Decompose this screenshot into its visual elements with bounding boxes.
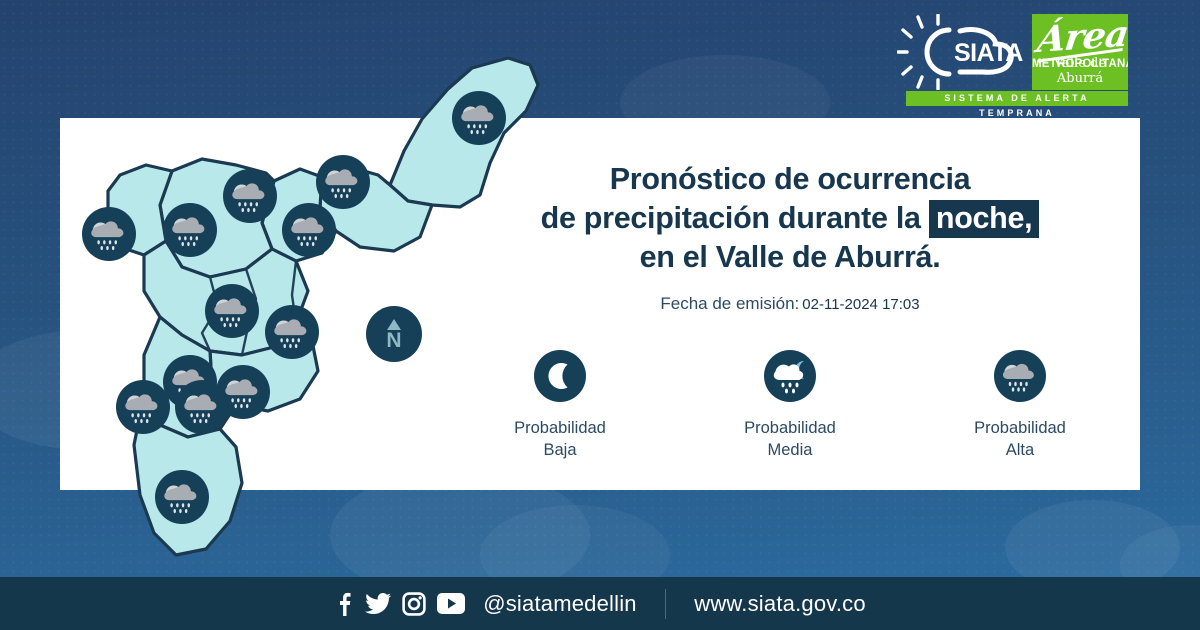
map-marker-alta[interactable] xyxy=(155,470,209,524)
legend-alta-line2: Alta xyxy=(974,440,1066,461)
twitter-icon[interactable] xyxy=(365,592,391,616)
footer-bar: @siatamedellin www.siata.gov.co xyxy=(0,577,1200,630)
legend-item-baja[interactable]: Probabilidad Baja xyxy=(485,350,635,461)
legend-label-alta: Probabilidad Alta xyxy=(974,418,1066,461)
legend-label-media: Probabilidad Media xyxy=(744,418,836,461)
north-arrow-icon xyxy=(387,319,401,330)
legend-baja-line1: Probabilidad xyxy=(514,418,606,439)
emission-date-label: Fecha de emisión: xyxy=(660,294,799,313)
logo-group: SIATA Área METROPOLITANA Valle de Aburrá xyxy=(897,14,1128,90)
footer-divider xyxy=(665,589,667,619)
cloud-rain-moon-icon xyxy=(764,350,816,402)
title-highlight-noche: noche, xyxy=(929,200,1040,238)
map-marker-alta[interactable] xyxy=(282,203,336,257)
youtube-icon[interactable] xyxy=(437,593,465,614)
sun-cloud-icon: SIATA xyxy=(897,14,1023,90)
website-url[interactable]: www.siata.gov.co xyxy=(694,591,866,617)
legend-baja-line2: Baja xyxy=(514,440,606,461)
title-line-2-text: de precipitación durante la xyxy=(541,201,921,235)
legend-label-baja: Probabilidad Baja xyxy=(514,418,606,461)
legend-media-line2: Media xyxy=(744,440,836,461)
legend-media-line1: Probabilidad xyxy=(744,418,836,439)
moon-icon xyxy=(534,350,586,402)
emission-date-value: 02-11-2024 17:03 xyxy=(802,296,919,313)
map-marker-alta[interactable] xyxy=(116,380,170,434)
title-line-1: Pronóstico de ocurrencia xyxy=(470,160,1110,199)
page-title: Pronóstico de ocurrencia de precipitació… xyxy=(470,160,1110,277)
social-links xyxy=(334,592,465,616)
map-marker-alta[interactable] xyxy=(265,305,319,359)
emission-date: Fecha de emisión:02-11-2024 17:03 xyxy=(470,294,1110,314)
map-marker-alta[interactable] xyxy=(316,155,370,209)
siata-wordmark: SIATA xyxy=(954,39,1023,67)
legend-item-media[interactable]: Probabilidad Media xyxy=(715,350,865,461)
instagram-icon[interactable] xyxy=(402,592,426,616)
map-marker-alta[interactable] xyxy=(82,207,136,261)
title-line-2: de precipitación durante la noche, xyxy=(470,199,1110,238)
facebook-icon[interactable] xyxy=(334,592,354,616)
map-marker-alta[interactable] xyxy=(205,284,259,338)
map-marker-alta[interactable] xyxy=(216,365,270,419)
forecast-content: Pronóstico de ocurrencia de precipitació… xyxy=(470,160,1110,461)
social-handle[interactable]: @siatamedellin xyxy=(483,591,637,617)
map-marker-alta[interactable] xyxy=(223,169,277,223)
siata-logo: SIATA xyxy=(897,14,1023,90)
compass-rose: N xyxy=(366,306,422,362)
area-metropolitana-logo: Área METROPOLITANA Valle de Aburrá xyxy=(1032,14,1128,90)
map-marker-alta[interactable] xyxy=(163,203,217,257)
map-marker-alta[interactable] xyxy=(452,91,506,145)
title-line-3: en el Valle de Aburrá. xyxy=(470,238,1110,277)
probability-legend: Probabilidad Baja xyxy=(470,350,1110,461)
legend-item-alta[interactable]: Probabilidad Alta xyxy=(945,350,1095,461)
cloud-rain-heavy-icon xyxy=(994,350,1046,402)
siata-tagline: SISTEMA DE ALERTA TEMPRANA xyxy=(906,91,1128,106)
area-line2: Valle de Aburrá xyxy=(1032,56,1128,86)
legend-alta-line1: Probabilidad xyxy=(974,418,1066,439)
compass-label: N xyxy=(386,331,401,350)
